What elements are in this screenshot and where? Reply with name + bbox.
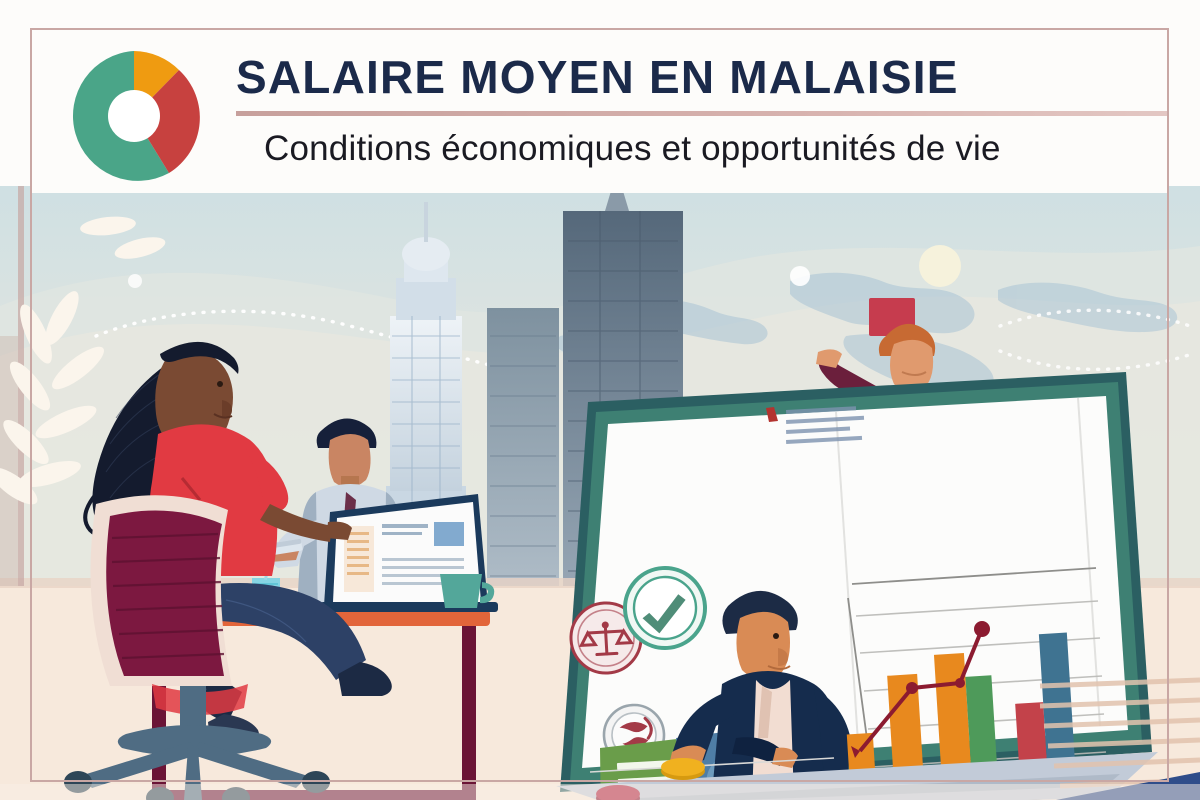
title-block: SALAIRE MOYEN EN MALAISIE Conditions éco… bbox=[236, 46, 1181, 176]
desk-leg-right bbox=[462, 626, 476, 800]
poster-canvas: SALAIRE MOYEN EN MALAISIE Conditions éco… bbox=[0, 0, 1200, 800]
building-mid bbox=[487, 308, 559, 613]
sun bbox=[919, 245, 961, 287]
chair-column bbox=[180, 686, 206, 730]
page-subtitle: Conditions économiques et opportunités d… bbox=[264, 122, 1181, 176]
page-title: SALAIRE MOYEN EN MALAISIE bbox=[236, 46, 1181, 108]
title-divider bbox=[236, 111, 1169, 116]
gold-coin bbox=[661, 758, 705, 776]
donut-chart-logo bbox=[63, 45, 205, 187]
illustration-stage bbox=[0, 186, 1200, 800]
large-dashboard-monitor bbox=[560, 372, 1152, 800]
bubble-dot-1 bbox=[790, 266, 810, 286]
donut-hole bbox=[108, 90, 160, 142]
bubble-dot-2 bbox=[128, 274, 142, 288]
poster-header: SALAIRE MOYEN EN MALAISIE Conditions éco… bbox=[0, 0, 1200, 195]
check-badge bbox=[623, 566, 707, 650]
